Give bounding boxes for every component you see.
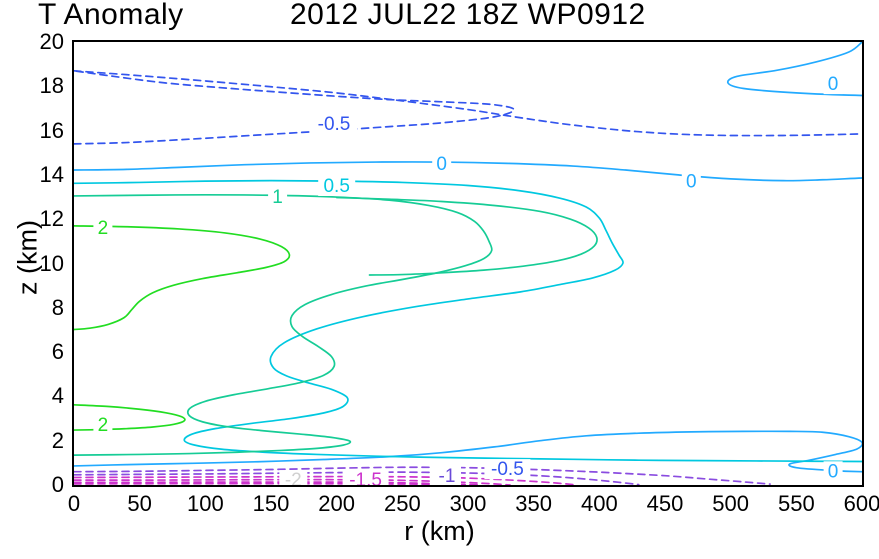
contour-label: 0 — [436, 154, 447, 175]
x-tick-label: 450 — [647, 491, 684, 517]
x-tick-label: 550 — [778, 491, 815, 517]
chart-title-left: T Anomaly — [38, 0, 184, 32]
contour-line — [74, 162, 862, 193]
y-tick-label: 10 — [4, 251, 64, 277]
chart-root: T Anomaly 2012 JUL22 18Z WP0912 z (km) r… — [0, 0, 879, 559]
contour-label: 0 — [828, 74, 839, 95]
y-tick-label: 20 — [4, 29, 64, 55]
x-tick-label: 300 — [450, 491, 487, 517]
plot-area: -0.500000.5122-0.5-1-1.5-2 — [72, 40, 864, 487]
contour-label: -2 — [285, 470, 302, 485]
x-tick-label: 350 — [515, 491, 552, 517]
y-tick-label: 14 — [4, 162, 64, 188]
contour-line — [74, 484, 481, 485]
contour-label: -1 — [439, 466, 456, 485]
contour-line — [74, 405, 185, 430]
chart-title-right: 2012 JUL22 18Z WP0912 — [290, 0, 646, 32]
contour-label: 0.5 — [323, 176, 349, 197]
x-tick-label: 0 — [68, 491, 80, 517]
contour-label: 0 — [828, 461, 839, 482]
contour-label: -1.5 — [349, 470, 382, 485]
contour-line — [74, 71, 862, 136]
contour-line — [74, 181, 862, 462]
contour-label: -0.5 — [491, 459, 524, 480]
contour-canvas: -0.500000.5122-0.5-1-1.5-2 — [74, 42, 862, 485]
contour-label: 2 — [98, 415, 109, 436]
y-tick-label: 12 — [4, 206, 64, 232]
x-tick-label: 400 — [581, 491, 618, 517]
contour-label: 2 — [98, 218, 109, 239]
x-tick-label: 600 — [844, 491, 879, 517]
y-tick-label: 2 — [4, 428, 64, 454]
y-tick-label: 6 — [4, 339, 64, 365]
y-tick-label: 16 — [4, 118, 64, 144]
x-tick-label: 250 — [384, 491, 421, 517]
x-axis-label: r (km) — [0, 516, 879, 547]
contour-line — [337, 197, 597, 275]
contour-line — [74, 195, 492, 455]
x-tick-label: 200 — [318, 491, 355, 517]
contour-lines — [74, 42, 862, 485]
x-tick-label: 500 — [712, 491, 749, 517]
y-tick-label: 18 — [4, 73, 64, 99]
contour-line — [74, 226, 289, 330]
y-tick-label: 0 — [4, 472, 64, 498]
contour-line — [74, 431, 862, 472]
x-tick-label: 50 — [127, 491, 151, 517]
x-tick-label: 150 — [253, 491, 290, 517]
y-tick-label: 4 — [4, 383, 64, 409]
x-tick-label: 100 — [187, 491, 224, 517]
contour-label: 1 — [272, 187, 283, 208]
contour-label: -0.5 — [318, 114, 351, 135]
contour-label: 0 — [686, 172, 697, 193]
y-tick-label: 8 — [4, 295, 64, 321]
